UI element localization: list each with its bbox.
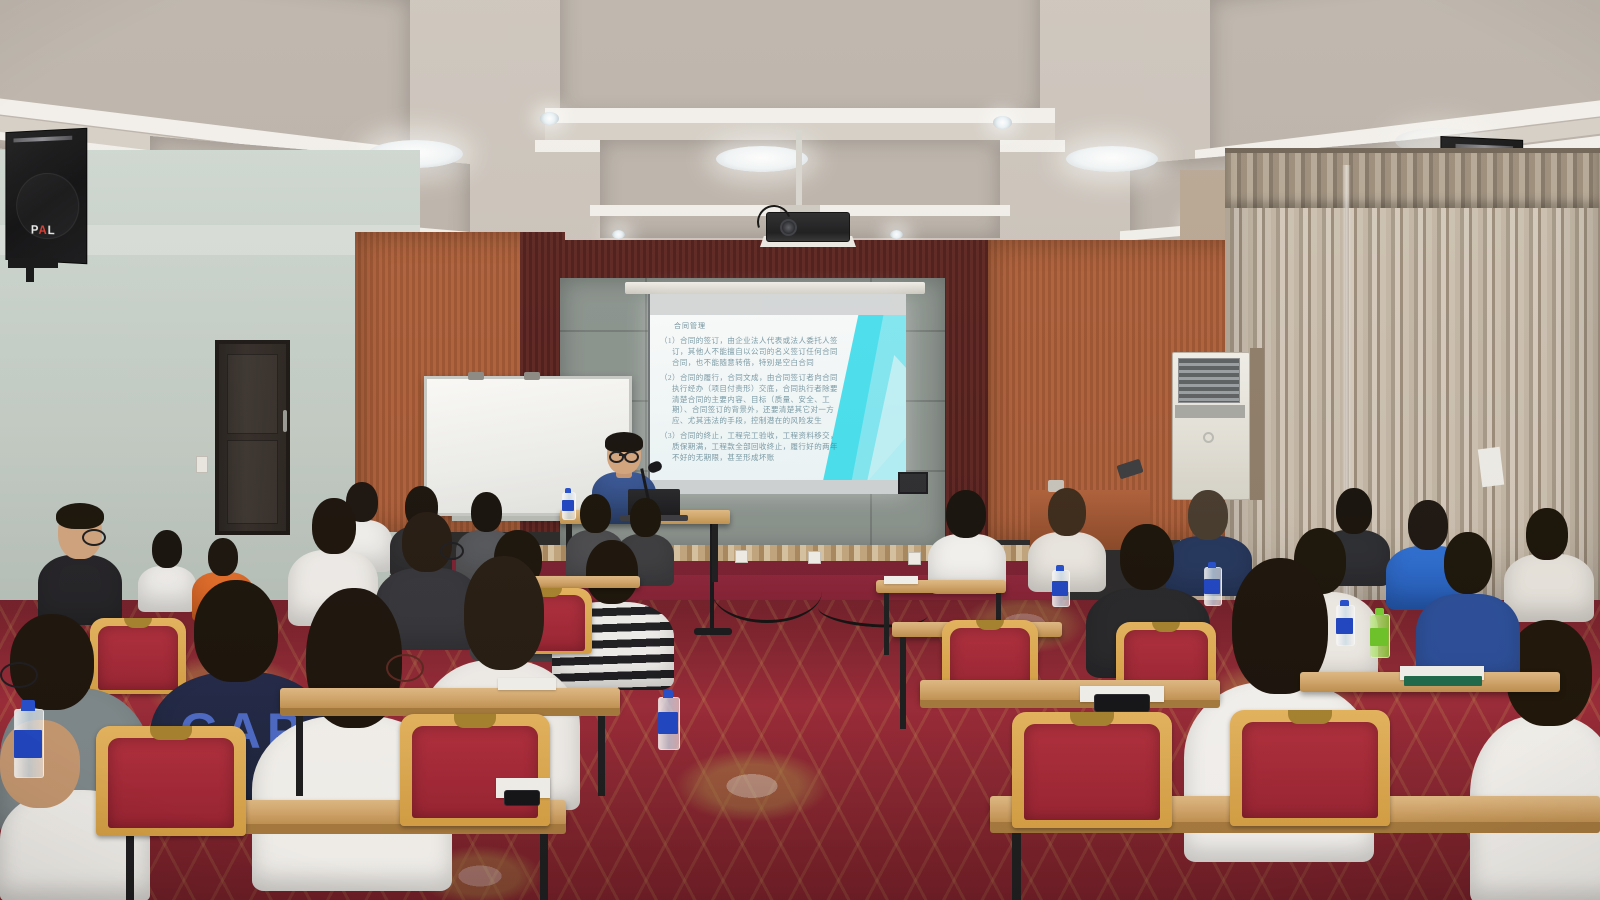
chair-handle-notch [1070,712,1114,726]
slide-paragraph-2: （2）合同的履行，合同文成，由合同签订者向合同 执行经办（项目付责形）交底，合同… [660,373,840,427]
slide-content: 合同管理 （1）合同的签订，由企业法人代表或法人委托人签 订，其他人不能擅自以公… [650,315,906,480]
microphone-stand-base [694,628,732,635]
slide-line: 应、尤其违法的手段，控制潜在的风险发生 [672,416,840,427]
speaker-brand-logo-left: PAL [31,223,56,238]
chair-cushion [108,738,234,828]
door-panel-upper [227,354,278,434]
chair-handle-notch [1288,710,1332,724]
head [630,498,661,537]
slide-line: 合同的履行，合同文成，由合同签订者向合同 [680,373,838,382]
slide-marker: （2） [660,373,680,382]
notebook[interactable] [1404,676,1482,686]
entry-door[interactable] [215,340,290,535]
presenter-glasses [609,451,624,463]
desk-edge [920,700,1220,708]
door-handle[interactable] [283,410,287,432]
presenter-glasses [624,451,639,463]
wall-power-outlet[interactable] [735,550,748,563]
slide-text-block: 合同管理 （1）合同的签订，由企业法人代表或法人委托人签 订，其他人不能擅自以公… [660,321,840,468]
whiteboard-clip [524,372,540,380]
slide-marker: （3） [660,431,680,440]
head [208,538,238,576]
chair-handle-notch [150,726,192,740]
eyeglasses [82,529,106,546]
speaker-bracket-arm-left [26,266,34,282]
slide-paragraph-1: （1）合同的签订，由企业法人代表或法人委托人签 订，其他人不能擅自以公司的名义签… [660,336,840,369]
desk-leg [884,593,889,655]
desk-leg [1012,833,1021,900]
paper-sheet [498,678,556,690]
chair-cushion [1024,724,1160,820]
bottle-cap [1375,608,1384,615]
brand-l: L [48,223,56,237]
ceiling-downlight[interactable] [612,230,625,239]
ac-brand-emblem [1203,432,1214,443]
ceiling-downlight[interactable] [993,116,1012,129]
eyeglasses [0,662,38,688]
presenter-desk-leg [712,524,718,582]
head [580,494,611,533]
screen-roller-case [625,282,925,294]
wall-frame [898,472,928,494]
ceiling-trim [545,108,1055,123]
slide-line: 期）、合同签订的背景外，还要清楚其它对一方 [672,405,840,416]
slide-line: 订，其他人不能擅自以公司的名义签订任何合同 [672,347,840,358]
screen-top-margin [650,294,906,315]
photo-scene: PAL PAL 合同管理 （ [0,0,1600,900]
curtain-header-pleat [1225,150,1600,208]
presenter-hair [605,432,643,452]
banquet-chair[interactable] [400,714,550,834]
slide-line: 合同，也不能随意转借，特别是空白合同 [672,358,840,369]
slide-line: 清楚合同的主要内容、目标（质量、安全、工 [672,395,840,406]
chair-cushion [1242,722,1378,818]
bottle-cap [663,690,673,698]
water-bottle[interactable] [1052,565,1068,605]
brand-p: P [31,223,39,237]
paper-sheet [884,576,918,584]
bottle-label [658,712,678,734]
ceiling-coffer-center [560,0,1040,117]
wall-light-switch[interactable] [196,456,208,473]
floor-cable [712,560,822,623]
ac-control-band [1175,405,1245,418]
head [1444,532,1492,594]
whiteboard-clip [468,372,484,380]
slide-line: 合同的终止，工程完工验收，工程资料移交， [680,431,838,440]
ceiling-downlight[interactable] [540,112,559,125]
wall-note-paper [1478,447,1504,487]
ceiling-light-fixture[interactable] [1066,146,1158,172]
slide-line: 质保期满，工程款全部回收终止，履行好的两年 [672,442,840,453]
curtain-rod [1225,148,1600,153]
banquet-chair[interactable] [1012,712,1172,836]
wood-header-beam [520,240,950,280]
ac-side-wall-strip [1250,348,1264,500]
wall-speaker-left: PAL [5,128,87,265]
bottle-cap [21,700,35,711]
hair [56,503,104,529]
screen-bottom-margin [650,480,906,494]
head [586,540,638,604]
head [946,490,986,538]
desk-leg [296,716,303,796]
banquet-chair[interactable] [96,726,246,844]
speaker-top-strip [13,136,72,143]
banquet-chair[interactable] [1230,710,1390,834]
attendee-right-back-1 [928,490,1006,592]
projection-screen: 合同管理 （1）合同的签订，由企业法人代表或法人委托人签 订，其他人不能擅自以公… [648,294,906,494]
slide-line: 不好的无期限，甚至形成坏账 [672,453,840,464]
bottle-label [14,730,42,758]
attendee-front-right-3 [1416,532,1520,682]
slide-title: 合同管理 [674,321,840,331]
chair-handle-notch [454,714,496,728]
slide-line: 合同的签订，由企业法人代表或法人委托人签 [680,336,838,345]
presenter-glasses-bridge [619,454,625,456]
water-bottle[interactable] [658,690,678,748]
ac-vent-grille [1178,358,1240,403]
water-bottle[interactable] [14,700,42,776]
smartphone[interactable] [1094,694,1150,712]
ceiling-light-fixture[interactable] [716,146,808,172]
head [312,498,356,554]
bottle-label [1052,581,1068,596]
slide-line: 执行经办（项目付责形）交底，合同执行者除要 [672,384,840,395]
wall-power-outlet[interactable] [808,551,821,564]
desk-leg [540,834,548,900]
desk-leg [598,716,605,796]
slide-paragraph-3: （3）合同的终止，工程完工验收，工程资料移交， 质保期满，工程款全部回收终止，履… [660,431,840,464]
head [152,530,182,568]
door-panel-lower [227,440,278,524]
front-desk-center [280,688,620,710]
head [1526,508,1568,560]
brand-a: A [38,223,47,237]
bottle-cap [565,488,571,493]
head [1120,524,1174,590]
ceiling-downlight[interactable] [890,230,903,239]
slide-marker: （1） [660,336,680,345]
eyeglasses [386,654,424,682]
projector-mount-pole [796,130,802,210]
desk-leg [900,637,906,729]
desk-right-mid [920,680,1220,702]
bottle-cap [1056,565,1064,571]
smartphone[interactable] [504,790,540,806]
head [1048,488,1086,536]
wall-power-outlet[interactable] [908,552,921,565]
head [464,556,544,670]
